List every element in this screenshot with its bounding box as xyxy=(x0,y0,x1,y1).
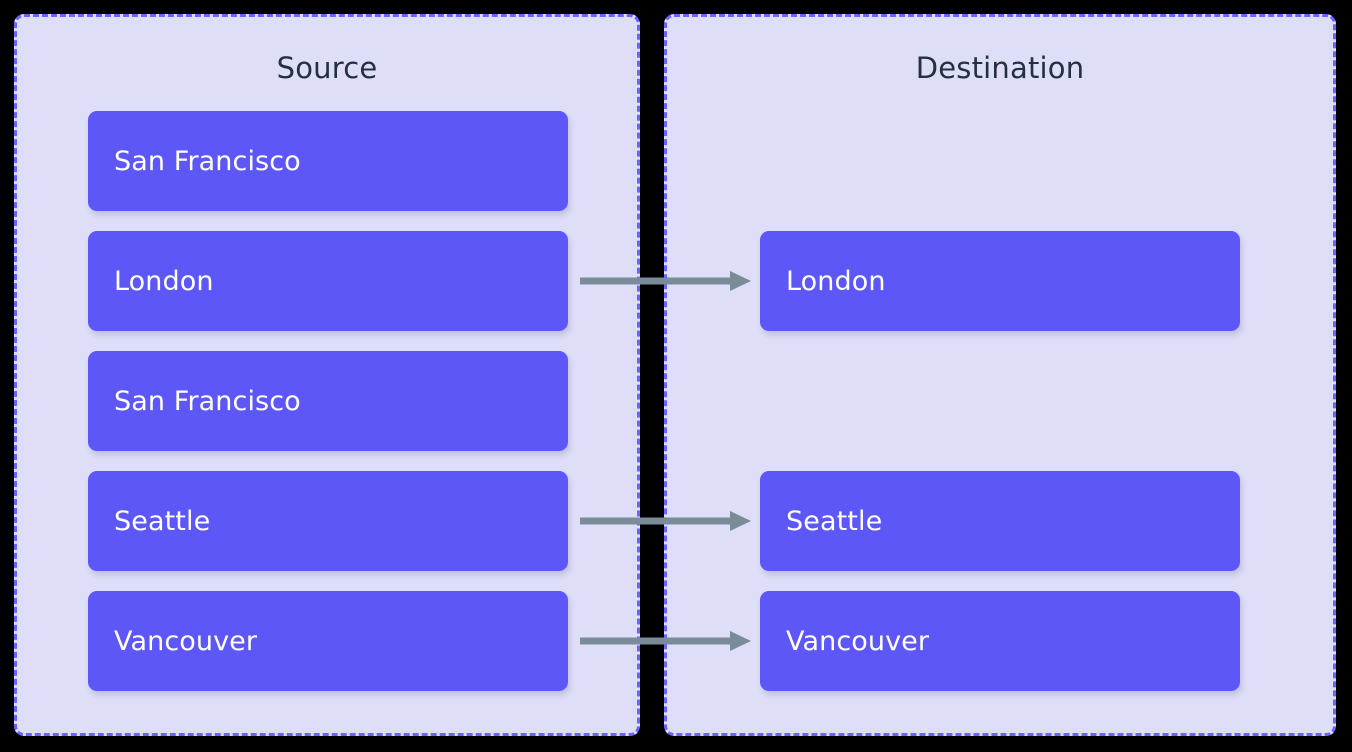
destination-node-label: London xyxy=(760,266,886,297)
source-node-label: Vancouver xyxy=(88,626,257,657)
source-node[interactable]: London xyxy=(88,231,568,331)
source-node-label: San Francisco xyxy=(88,146,301,177)
destination-node[interactable]: London xyxy=(760,231,1240,331)
destination-node[interactable]: Seattle xyxy=(760,471,1240,571)
source-node-label: San Francisco xyxy=(88,386,301,417)
destination-panel-title: Destination xyxy=(667,51,1333,85)
diagram-canvas: Source Destination San Francisco London … xyxy=(0,0,1352,752)
destination-node-label: Seattle xyxy=(760,506,882,537)
source-node-label: London xyxy=(88,266,214,297)
source-panel-title: Source xyxy=(17,51,637,85)
source-node-label: Seattle xyxy=(88,506,210,537)
source-node[interactable]: San Francisco xyxy=(88,111,568,211)
destination-node-label: Vancouver xyxy=(760,626,929,657)
destination-node[interactable]: Vancouver xyxy=(760,591,1240,691)
source-node[interactable]: Seattle xyxy=(88,471,568,571)
source-node[interactable]: Vancouver xyxy=(88,591,568,691)
source-node[interactable]: San Francisco xyxy=(88,351,568,451)
